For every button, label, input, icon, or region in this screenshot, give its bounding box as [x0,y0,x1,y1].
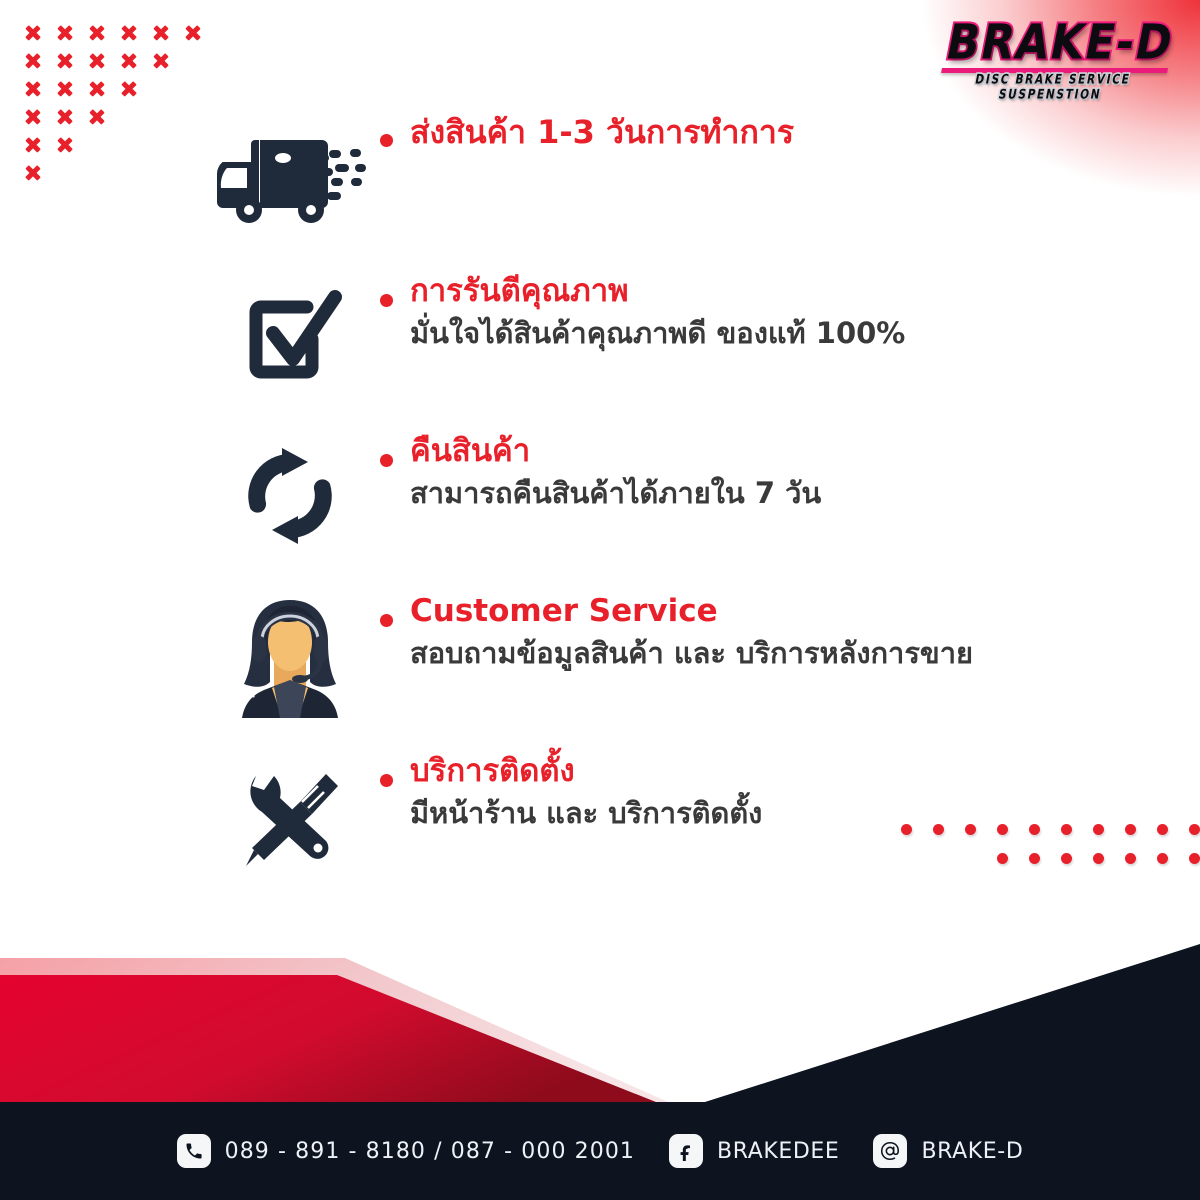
feature-text-installation: บริการติดตั้ง มีหน้าร้าน และ บริการติดตั… [380,746,762,832]
x-mark-icon [54,22,76,44]
feature-item-customer-service: Customer Service สอบถามข้อมูลสินค้า และ … [0,586,1200,746]
footer-contact-facebook[interactable]: BRAKEDEE [669,1134,839,1168]
footer-line-label: BRAKE-D [921,1139,1023,1164]
feature-item-installation: บริการติดตั้ง มีหน้าร้าน และ บริการติดตั… [0,746,1200,906]
x-mark-row [22,78,204,100]
x-mark-icon [54,50,76,72]
navy-diagonal-shape [680,948,1200,1110]
feature-heading: บริการติดตั้ง [410,752,762,791]
phone-icon [177,1134,211,1168]
feature-subtext: มีหน้าร้าน และ บริการติดตั้ง [410,795,762,833]
feature-text-customer-service: Customer Service สอบถามข้อมูลสินค้า และ … [380,586,973,672]
facebook-icon [669,1134,703,1168]
footer-contact-line[interactable]: BRAKE-D [873,1134,1023,1168]
x-mark-icon [118,22,140,44]
bullet-point [380,134,393,147]
feature-heading: การรันตีคุณภาพ [410,272,905,311]
red-bevel-shape [0,958,686,1110]
logo-tagline: DISC BRAKE SERVICE SUSPENSTION [933,72,1169,102]
x-mark-icon [118,78,140,100]
x-mark-icon [22,22,44,44]
feature-subtext: สามารถคืนสินค้าได้ภายใน 7 วัน [410,475,821,513]
x-mark-row [22,50,204,72]
x-mark-icon [54,78,76,100]
footer-contact-bar: 089 - 891 - 8180 / 087 - 000 2001 BRAKED… [0,1102,1200,1200]
feature-heading: ส่งสินค้า 1-3 วันการทำการ [410,112,794,152]
footer-phone-label: 089 - 891 - 8180 / 087 - 000 2001 [225,1139,635,1164]
x-mark-icon [182,22,204,44]
x-mark-icon [150,22,172,44]
feature-text-returns: คืนสินค้า สามารถคืนสินค้าได้ภายใน 7 วัน [380,426,821,512]
checkbox-check-icon [200,266,380,406]
x-mark-icon [86,78,108,100]
feature-item-delivery: ส่งสินค้า 1-3 วันการทำการ [0,106,1200,266]
x-mark-icon [150,50,172,72]
return-arrows-icon [200,426,380,566]
customer-service-agent-icon [200,586,380,726]
x-mark-row [22,22,204,44]
brand-logo: BRAKE-D DISC BRAKE SERVICE SUSPENSTION [935,22,1179,94]
feature-item-returns: คืนสินค้า สามารถคืนสินค้าได้ภายใน 7 วัน [0,426,1200,586]
feature-text-delivery: ส่งสินค้า 1-3 วันการทำการ [380,106,794,152]
navy-diagonal-shape-2 [680,944,1200,1110]
wrench-screwdriver-icon [200,746,380,886]
footer-facebook-label: BRAKEDEE [717,1139,839,1164]
x-mark-icon [86,22,108,44]
feature-heading: คืนสินค้า [410,432,821,471]
bullet-point [380,454,393,467]
at-sign-icon [873,1134,907,1168]
x-mark-icon [22,50,44,72]
red-angular-shape [0,975,676,1110]
bullet-point [380,614,393,627]
bullet-point [380,774,393,787]
x-mark-icon [118,50,140,72]
feature-subtext: สอบถามข้อมูลสินค้า และ บริการหลังการขาย [410,635,973,673]
delivery-truck-icon [200,106,380,226]
bullet-point [380,294,393,307]
x-mark-icon [22,78,44,100]
logo-wordmark: BRAKE-D [940,19,1179,67]
feature-subtext: มั่นใจได้สินค้าคุณภาพดี ของแท้ 100% [410,315,905,353]
feature-heading: Customer Service [410,592,973,631]
feature-item-quality: การรันตีคุณภาพ มั่นใจได้สินค้าคุณภาพดี ข… [0,266,1200,426]
feature-list: ส่งสินค้า 1-3 วันการทำการ การรันตีคุณภาพ… [0,106,1200,906]
x-mark-icon [86,50,108,72]
footer-contact-phone[interactable]: 089 - 891 - 8180 / 087 - 000 2001 [177,1134,635,1168]
feature-text-quality: การรันตีคุณภาพ มั่นใจได้สินค้าคุณภาพดี ข… [380,266,905,352]
